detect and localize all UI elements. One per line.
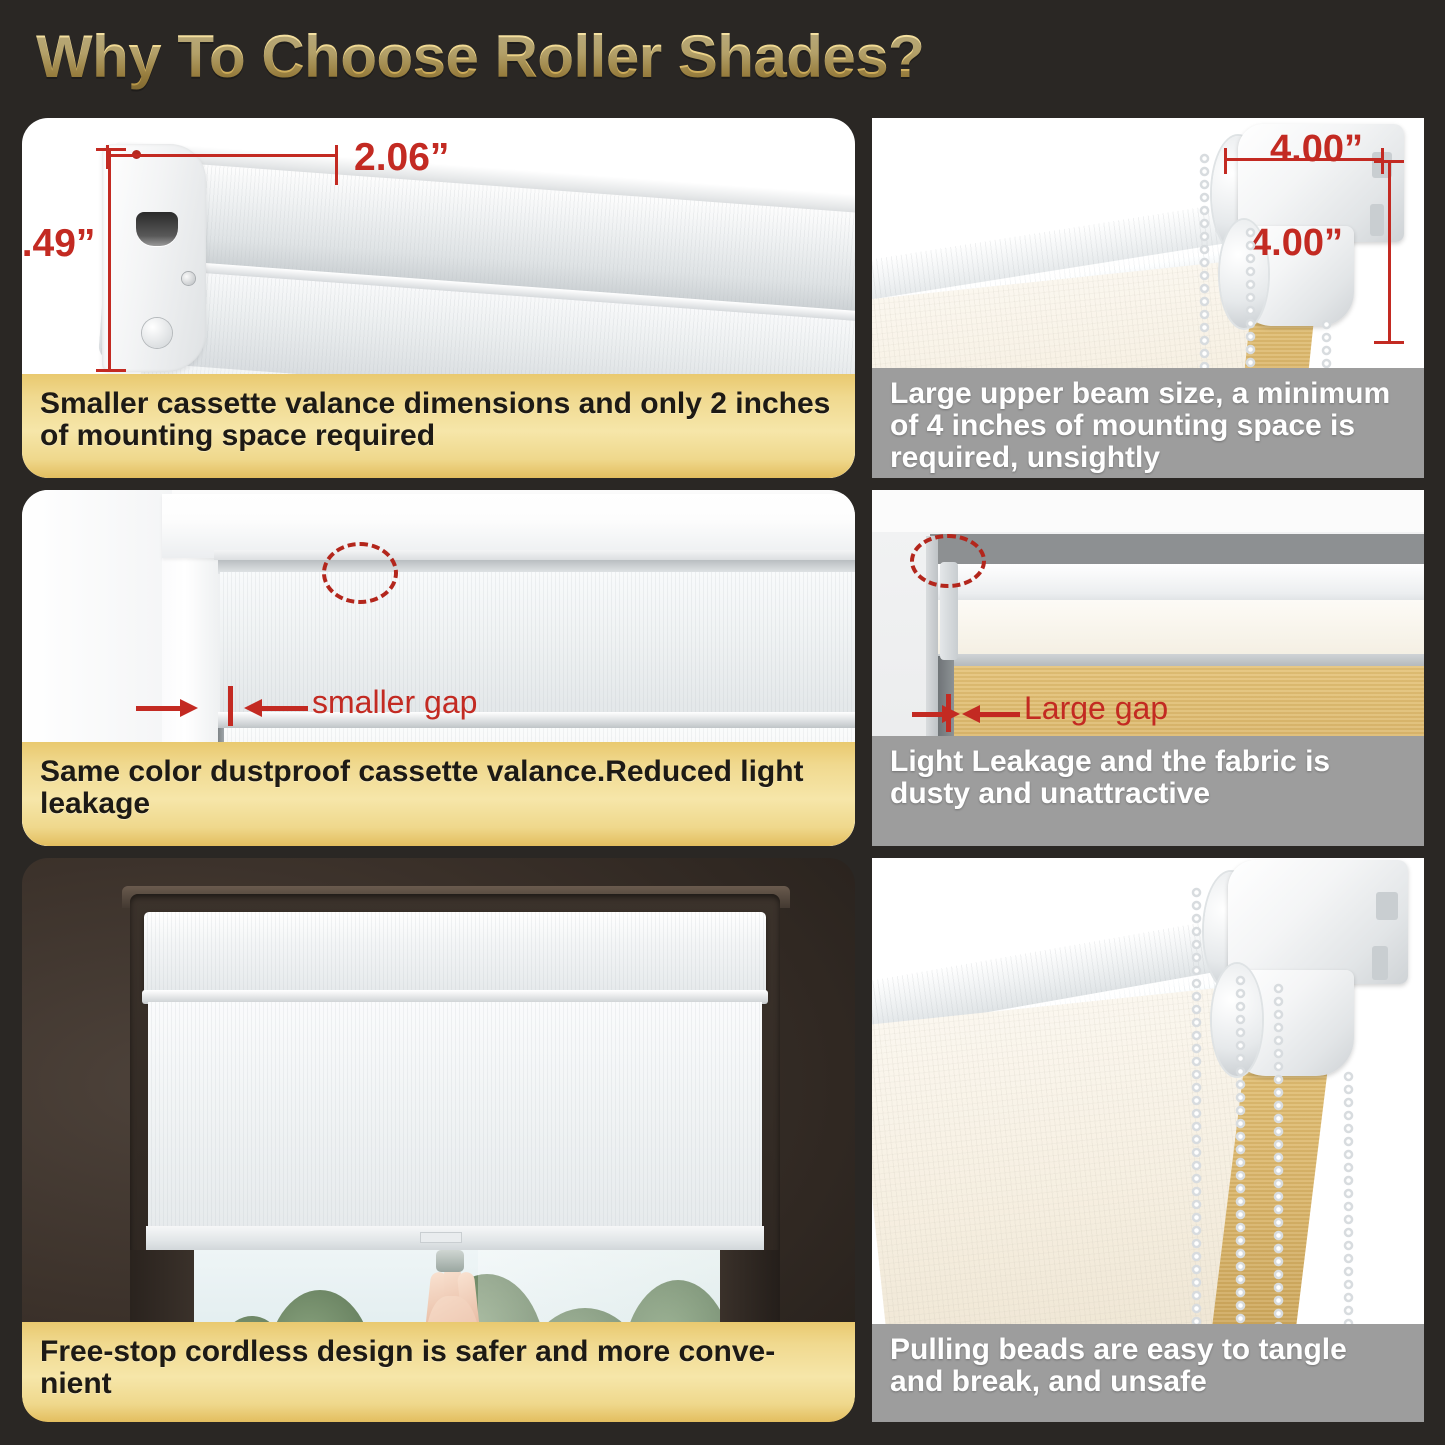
smaller-gap-label: smaller gap <box>312 684 477 721</box>
beam-width-label: 4.00” <box>1270 128 1363 171</box>
bead-chain-1[interactable] <box>1190 886 1203 1324</box>
comparison-grid: 2.06” 5.49” Smaller cassette valance dim… <box>0 0 1445 1445</box>
panel-pulling-beads: Pulling beads are easy to tangle and bre… <box>872 858 1424 1422</box>
valance-bottom-edge <box>934 654 1424 666</box>
bead-chain-4[interactable] <box>1342 1070 1355 1324</box>
gap-measure-bar <box>946 694 951 732</box>
width-dimension <box>106 154 338 157</box>
shade-fabric <box>148 1002 762 1232</box>
bead-chain-2[interactable] <box>1234 974 1247 1324</box>
panel-dustproof-valance: smaller gap Same color dustproof cassett… <box>22 490 855 846</box>
panel-cordless-design: Free-stop cordless design is safer and m… <box>22 858 855 1422</box>
valance-front <box>934 600 1424 656</box>
panel-5-caption: Free-stop cordless design is safer and m… <box>22 1322 855 1422</box>
panel-large-beam: 4.00” 4.00” Large upper beam size, a min… <box>872 118 1424 478</box>
beam-height-label: 4.00” <box>1250 222 1343 265</box>
height-dimension <box>108 148 111 372</box>
beam-width-dimension <box>1224 158 1384 161</box>
panel-4-caption: Light Leakage and the fabric is dusty an… <box>872 736 1424 846</box>
hem-tag <box>420 1232 462 1243</box>
valance-slot <box>136 212 178 246</box>
bracket-notch-mid <box>1370 204 1384 236</box>
frame-bevel <box>214 550 855 560</box>
panel-light-leakage: Large gap Light Leakage and the fabric i… <box>872 490 1424 846</box>
window-frame-top <box>162 494 855 558</box>
bracket-notch-mid <box>1372 946 1388 980</box>
height-dimension-label: 5.49” <box>22 222 95 266</box>
bracket-notch-top <box>1376 892 1398 920</box>
cassette-valance <box>144 912 766 1002</box>
shade-pull-grip[interactable] <box>436 1250 464 1272</box>
panel-6-caption: Pulling beads are easy to tangle and bre… <box>872 1324 1424 1422</box>
valance-pin <box>142 318 172 348</box>
bead-chain-3[interactable] <box>1272 982 1285 1324</box>
width-dimension-label: 2.06” <box>354 136 449 180</box>
highlight-ellipse <box>322 542 398 604</box>
beam-height-dimension <box>1388 160 1391 344</box>
panel-2-caption: Large upper beam size, a minimum of 4 in… <box>872 368 1424 478</box>
panel-1-caption: Smaller cassette valance dimensions and … <box>22 374 855 478</box>
screw-icon <box>182 272 195 285</box>
panel-3-caption: Same color dustproof cassette valance.Re… <box>22 742 855 846</box>
panel-smaller-cassette: 2.06” 5.49” Smaller cassette valance dim… <box>22 118 855 478</box>
highlight-ellipse <box>910 534 986 588</box>
large-gap-label: Large gap <box>1024 690 1168 727</box>
gap-measure-bar <box>228 686 233 726</box>
